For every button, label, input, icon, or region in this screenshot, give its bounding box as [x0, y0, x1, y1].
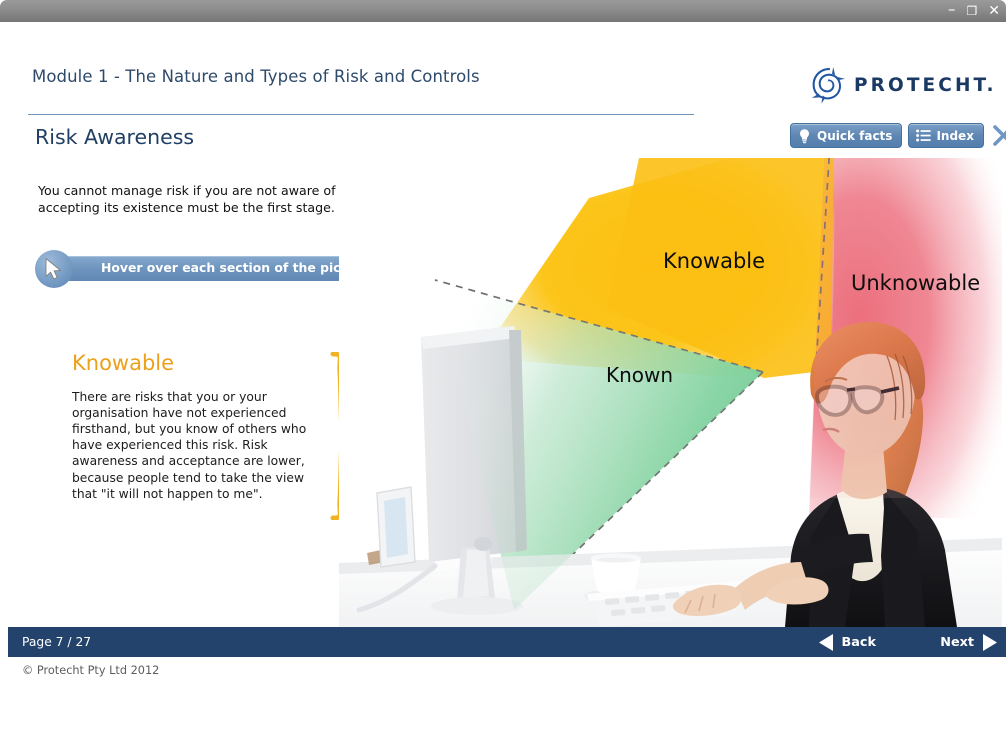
page-toolbar: Quick facts Index: [790, 123, 1006, 148]
application-window: – ❐ ✕ Module 1 - The Nature and Types of…: [0, 0, 1006, 737]
index-button[interactable]: Index: [908, 123, 983, 148]
maximize-icon[interactable]: ❐: [967, 5, 978, 17]
page-title: Risk Awareness: [35, 125, 194, 149]
zone-label-knowable[interactable]: Knowable: [663, 249, 765, 273]
back-label: Back: [842, 635, 877, 650]
back-button[interactable]: Back: [818, 633, 877, 652]
window-titlebar: – ❐ ✕: [0, 0, 1006, 22]
close-lesson-button[interactable]: [991, 123, 1006, 149]
module-title: Module 1 - The Nature and Types of Risk …: [32, 67, 480, 86]
cursor-icon-badge: [35, 250, 73, 288]
explanation-panel: Knowable There are risks that you or you…: [72, 352, 357, 502]
close-window-icon[interactable]: ✕: [988, 4, 1000, 18]
quick-facts-label: Quick facts: [817, 129, 892, 143]
navigation-bar: Page 7 / 27 Back Next: [8, 627, 1006, 657]
explanation-title: Knowable: [72, 352, 357, 375]
next-button[interactable]: Next: [940, 633, 998, 652]
minimize-icon[interactable]: –: [948, 2, 956, 17]
page-indicator: Page 7 / 27: [22, 635, 91, 649]
protecht-logo-text: PROTECHT.: [854, 75, 997, 96]
explanation-body: There are risks that you or your organis…: [72, 389, 330, 502]
back-arrow-icon: [818, 633, 835, 652]
window-content: Module 1 - The Nature and Types of Risk …: [4, 22, 1002, 733]
zone-label-known[interactable]: Known: [606, 363, 673, 387]
close-icon: [991, 123, 1006, 148]
risk-awareness-diagram[interactable]: [339, 158, 1002, 627]
next-label: Next: [940, 635, 974, 650]
index-label: Index: [936, 129, 973, 143]
bulb-icon: [798, 128, 812, 144]
protecht-logo-icon: [809, 66, 847, 104]
quick-facts-button[interactable]: Quick facts: [790, 123, 902, 148]
protecht-logo: PROTECHT.: [809, 66, 981, 106]
zone-label-unknowable[interactable]: Unknowable: [851, 271, 980, 295]
list-icon: [916, 129, 931, 142]
window-controls: – ❐ ✕: [948, 0, 1000, 22]
copyright-notice: © Protecht Pty Ltd 2012: [22, 664, 159, 677]
next-arrow-icon: [981, 633, 998, 652]
cursor-arrow-icon: [44, 257, 65, 281]
diagram-canvas: [339, 158, 1002, 627]
header-divider: [28, 114, 694, 115]
